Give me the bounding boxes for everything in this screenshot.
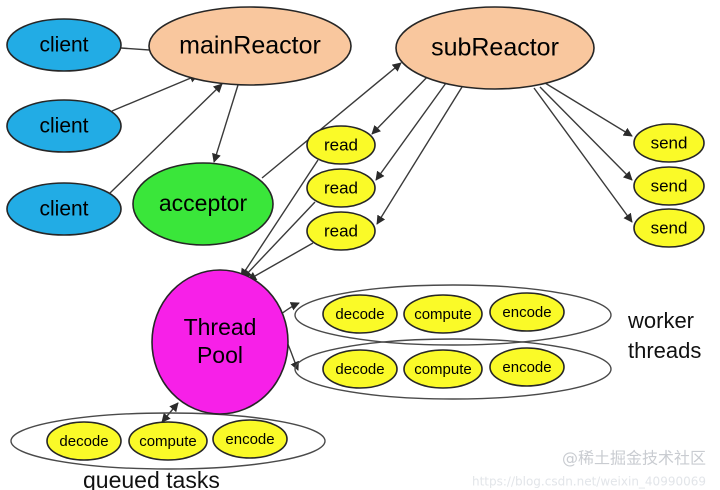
worker-thread-1-task-compute-label: compute xyxy=(414,306,472,323)
sub-reactor-node[interactable]: subReactor xyxy=(396,7,594,89)
read-node-3-label: read xyxy=(324,221,358,240)
worker-threads-label-line1: worker xyxy=(627,308,694,333)
worker-thread-1-task-compute[interactable]: compute xyxy=(404,295,482,333)
main-reactor-node[interactable]: mainReactor xyxy=(149,7,351,85)
worker-threads-label-line2: threads xyxy=(628,338,701,363)
queued-tasks-task-compute[interactable]: compute xyxy=(129,422,207,460)
diagram-canvas: clientclientclientmainReactorsubReactora… xyxy=(0,0,720,490)
watermark-layer: @稀土掘金技术社区https://blog.csdn.net/weixin_40… xyxy=(472,449,706,489)
client-node-3[interactable]: client xyxy=(7,183,121,235)
worker-thread-1-task-decode[interactable]: decode xyxy=(323,295,397,333)
thread-pool-node-label-line2: Pool xyxy=(197,342,243,368)
reactor-diagram: clientclientclientmainReactorsubReactora… xyxy=(0,0,720,490)
send-node-2[interactable]: send xyxy=(634,167,704,205)
client-node-3-label: client xyxy=(39,198,88,221)
queued-tasks-task-decode-label: decode xyxy=(59,433,108,450)
thread-pool-node[interactable]: ThreadPool xyxy=(152,270,288,414)
read-node-1-label: read xyxy=(324,135,358,154)
read-node-2[interactable]: read xyxy=(307,169,375,207)
acceptor-node-label: acceptor xyxy=(159,190,248,216)
thread-pool-node-label-line1: Thread xyxy=(184,314,257,340)
mainreactor-to-acceptor xyxy=(214,85,238,162)
send-node-1-label: send xyxy=(651,133,688,152)
worker-thread-1-task-encode[interactable]: encode xyxy=(490,293,564,331)
worker-thread-1-task-decode-label: decode xyxy=(335,306,384,323)
send-node-3-label: send xyxy=(651,218,688,237)
subreactor-to-send1 xyxy=(545,83,632,136)
queued-tasks-task-encode[interactable]: encode xyxy=(213,420,287,458)
queued-tasks-label: queued tasks xyxy=(83,467,220,490)
worker-thread-2-task-compute[interactable]: compute xyxy=(404,350,482,388)
queued-tasks-task-decode[interactable]: decode xyxy=(47,422,121,460)
subreactor-to-send2 xyxy=(540,87,632,180)
read-node-2-label: read xyxy=(324,178,358,197)
client2-to-mainreactor xyxy=(112,75,198,111)
watermark-url: https://blog.csdn.net/weixin_40990069 xyxy=(472,475,706,489)
worker-thread-2-task-decode-label: decode xyxy=(335,361,384,378)
sub-reactor-node-label: subReactor xyxy=(431,34,559,62)
subreactor-to-read3 xyxy=(377,87,462,224)
subreactor-to-send3 xyxy=(534,88,632,222)
queued-tasks-task-encode-label: encode xyxy=(225,431,274,448)
subreactor-to-read2 xyxy=(376,83,446,180)
worker-thread-2-task-encode-label: encode xyxy=(502,359,551,376)
worker-thread-1-task-encode-label: encode xyxy=(502,304,551,321)
worker-thread-2-task-decode[interactable]: decode xyxy=(323,350,397,388)
worker-thread-2-task-encode[interactable]: encode xyxy=(490,348,564,386)
subreactor-to-read1 xyxy=(372,72,432,134)
worker-thread-2-task-compute-label: compute xyxy=(414,361,472,378)
send-node-1[interactable]: send xyxy=(634,124,704,162)
client-node-1[interactable]: client xyxy=(7,19,121,71)
acceptor-node[interactable]: acceptor xyxy=(133,163,273,245)
send-node-3[interactable]: send xyxy=(634,209,704,247)
read-node-1[interactable]: read xyxy=(307,126,375,164)
client-node-2-label: client xyxy=(39,115,88,138)
send-node-2-label: send xyxy=(651,176,688,195)
read-node-3[interactable]: read xyxy=(307,212,375,250)
client-node-2[interactable]: client xyxy=(7,100,121,152)
main-reactor-node-label: mainReactor xyxy=(179,32,321,60)
queued-tasks-task-compute-label: compute xyxy=(139,433,197,450)
client-node-1-label: client xyxy=(39,34,88,57)
watermark-label: @稀土掘金技术社区 xyxy=(562,449,706,468)
